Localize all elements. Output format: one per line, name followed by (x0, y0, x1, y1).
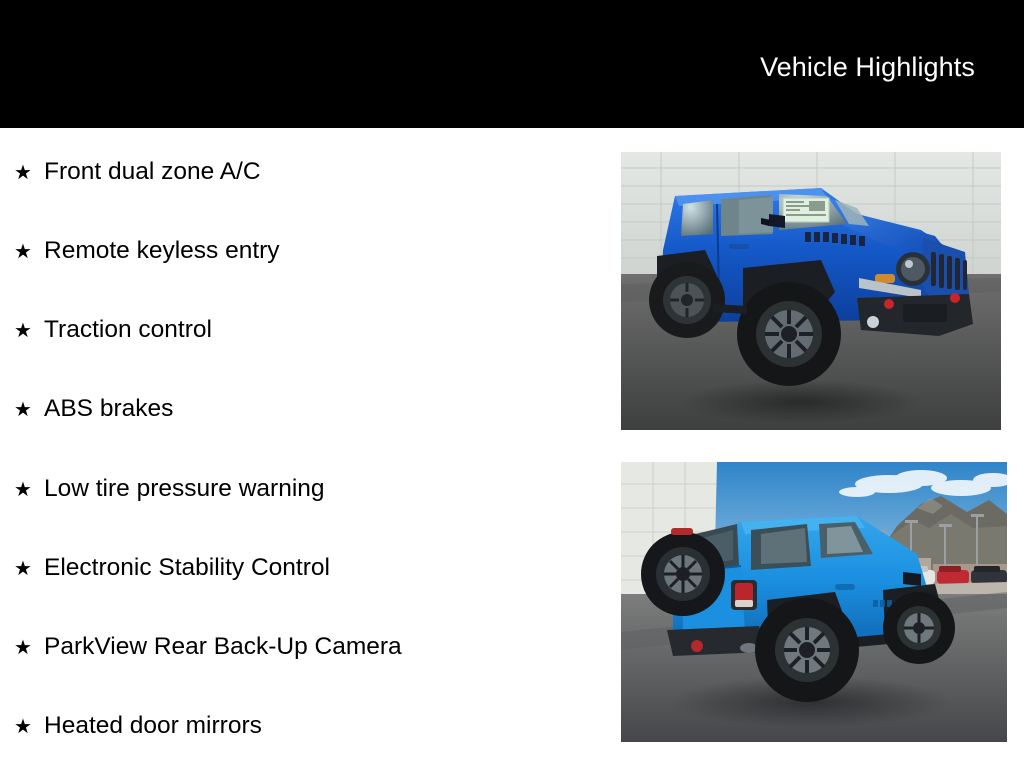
star-bullet-icon: ★ (14, 559, 44, 579)
vehicle-photo-front[interactable] (621, 152, 1001, 430)
list-item: ★ Remote keyless entry (14, 237, 280, 265)
list-item: ★ ParkView Rear Back-Up Camera (14, 633, 402, 661)
list-item: ★ ABS brakes (14, 395, 173, 423)
vehicle-photo-front-illustration (621, 152, 1001, 430)
highlight-label: Low tire pressure warning (44, 475, 325, 503)
star-bullet-icon: ★ (14, 242, 44, 262)
highlight-label: Front dual zone A/C (44, 158, 261, 186)
highlight-label: Remote keyless entry (44, 237, 280, 265)
star-bullet-icon: ★ (14, 321, 44, 341)
highlight-label: Traction control (44, 316, 212, 344)
list-item: ★ Heated door mirrors (14, 712, 262, 740)
star-bullet-icon: ★ (14, 163, 44, 183)
page-title: Vehicle Highlights (760, 51, 975, 83)
vehicle-photo-rear-illustration (621, 462, 1007, 742)
highlight-label: ParkView Rear Back-Up Camera (44, 633, 402, 661)
list-item: ★ Electronic Stability Control (14, 554, 330, 582)
highlight-label: ABS brakes (44, 395, 173, 423)
highlight-label: Electronic Stability Control (44, 554, 330, 582)
star-bullet-icon: ★ (14, 400, 44, 420)
star-bullet-icon: ★ (14, 638, 44, 658)
star-bullet-icon: ★ (14, 717, 44, 737)
list-item: ★ Low tire pressure warning (14, 475, 325, 503)
vehicle-photo-rear[interactable] (621, 462, 1007, 742)
highlight-label: Heated door mirrors (44, 712, 262, 740)
vehicle-highlights-list: ★ Front dual zone A/C ★ Remote keyless e… (0, 128, 600, 768)
list-item: ★ Front dual zone A/C (14, 158, 261, 186)
star-bullet-icon: ★ (14, 480, 44, 500)
list-item: ★ Traction control (14, 316, 212, 344)
